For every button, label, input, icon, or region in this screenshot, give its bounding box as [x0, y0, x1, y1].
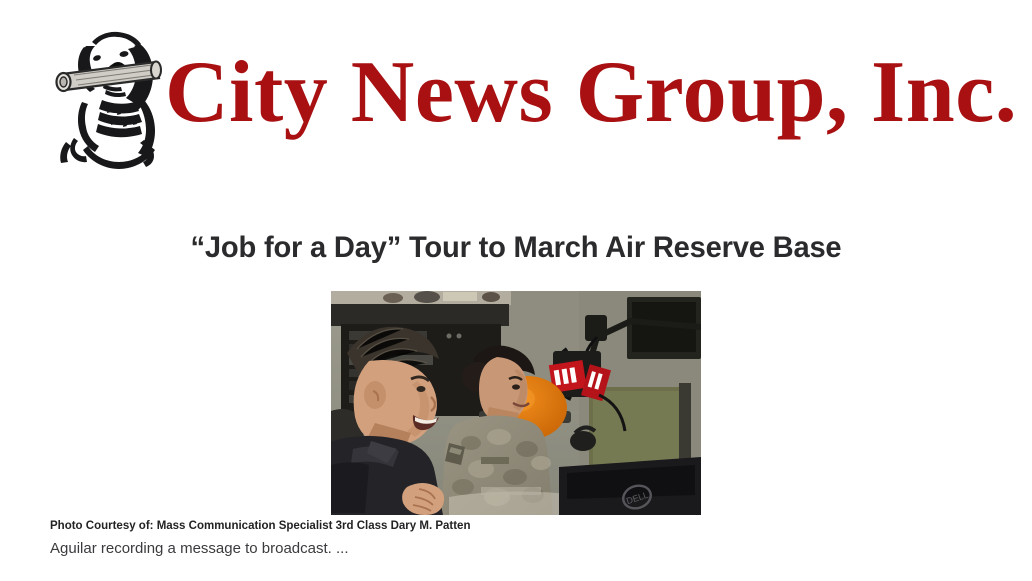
photo-caption: Photo Courtesy of: Mass Communication Sp…	[50, 518, 950, 560]
masthead: City News Group, Inc.	[0, 0, 1032, 185]
site-wordmark: City News Group, Inc.	[165, 38, 995, 148]
article-page: City News Group, Inc. “Job for a Day” To…	[0, 0, 1032, 581]
page-title: “Job for a Day” Tour to March Air Reserv…	[15, 228, 1016, 268]
caption-text: Aguilar recording a message to broadcast…	[50, 538, 950, 560]
photo-credit: Photo Courtesy of: Mass Communication Sp…	[50, 518, 950, 534]
article-photo: DELL	[331, 291, 701, 515]
